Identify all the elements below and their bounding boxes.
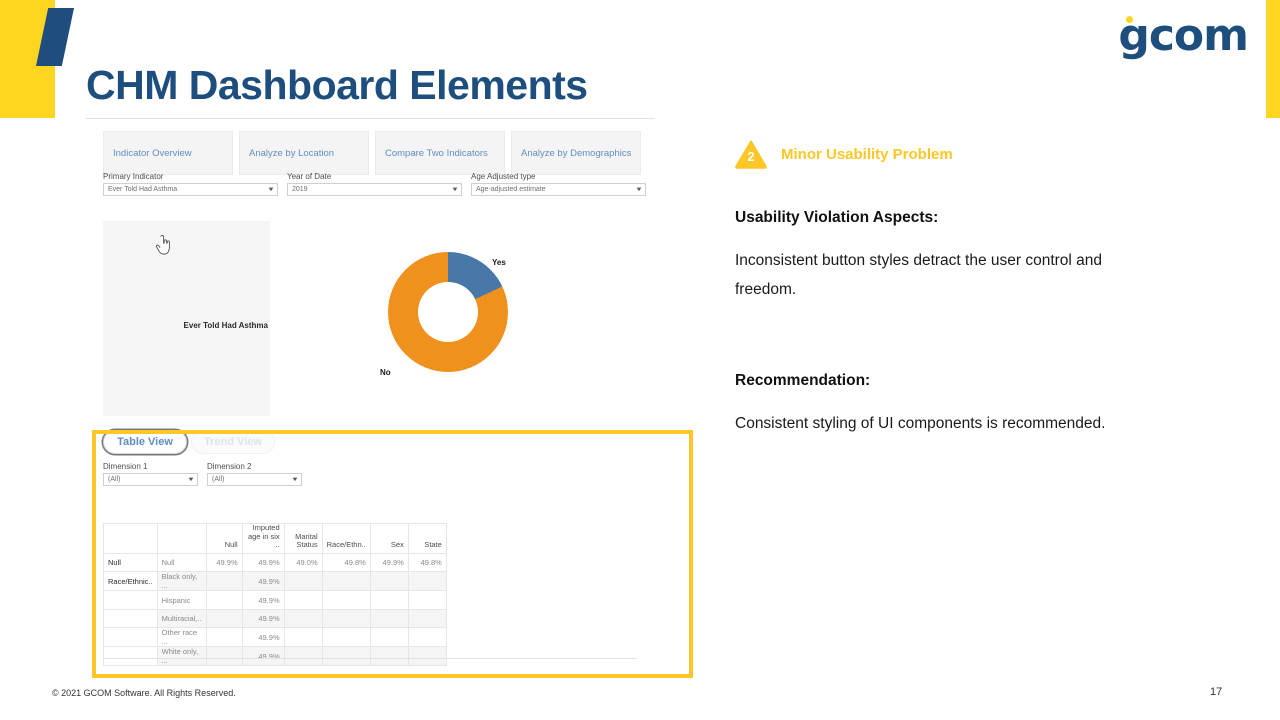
screenshot-top-divider bbox=[85, 118, 655, 119]
chevron-down-icon: ▼ bbox=[267, 187, 275, 193]
page-number: 17 bbox=[1210, 686, 1222, 698]
bar-chart-panel: Ever Told Had Asthma bbox=[103, 221, 270, 416]
donut-label-no: No bbox=[380, 368, 391, 377]
filter-label: Primary Indicator bbox=[103, 172, 278, 181]
copyright-text: © 2021 GCOM Software. All Rights Reserve… bbox=[52, 688, 236, 698]
primary-indicator-select[interactable]: Ever Told Had Asthma ▼ bbox=[103, 183, 278, 196]
tab-analyze-by-demographics[interactable]: Analyze by Demographics bbox=[511, 131, 641, 175]
tab-label: Indicator Overview bbox=[113, 148, 192, 159]
chart-axis-label: Ever Told Had Asthma bbox=[184, 321, 268, 330]
slide: gcom CHM Dashboard Elements Indicator Ov… bbox=[0, 0, 1280, 720]
gcom-logo: gcom bbox=[1118, 14, 1248, 58]
severity-number: 2 bbox=[735, 149, 767, 164]
tab-label: Compare Two Indicators bbox=[385, 148, 488, 159]
violation-body-block: Inconsistent button styles detract the u… bbox=[735, 246, 1135, 305]
select-value: Age-adjusted estimate bbox=[476, 186, 546, 193]
severity-header: 2 Minor Usability Problem bbox=[735, 140, 953, 169]
year-of-date-select[interactable]: 2019 ▼ bbox=[287, 183, 462, 196]
page-title: CHM Dashboard Elements bbox=[86, 62, 588, 109]
filter-primary-indicator: Primary Indicator Ever Told Had Asthma ▼ bbox=[103, 172, 278, 196]
severity-title: Minor Usability Problem bbox=[781, 146, 953, 163]
recommendation-heading-block: Recommendation: bbox=[735, 372, 1135, 390]
recommendation-body: Consistent styling of UI components is r… bbox=[735, 409, 1135, 438]
hand-pointer-icon bbox=[155, 235, 171, 255]
tab-indicator-overview[interactable]: Indicator Overview bbox=[103, 131, 233, 175]
right-yellow-bar bbox=[1266, 0, 1280, 118]
tab-label: Analyze by Demographics bbox=[521, 148, 631, 159]
tab-compare-two-indicators[interactable]: Compare Two Indicators bbox=[375, 131, 505, 175]
filter-bar: Primary Indicator Ever Told Had Asthma ▼… bbox=[103, 172, 655, 196]
tab-analyze-by-location[interactable]: Analyze by Location bbox=[239, 131, 369, 175]
violation-heading-block: Usability Violation Aspects: bbox=[735, 209, 1135, 227]
select-value: 2019 bbox=[292, 186, 308, 193]
donut-label-yes: Yes bbox=[492, 258, 506, 267]
tab-label: Analyze by Location bbox=[249, 148, 334, 159]
dashboard-tab-bar: Indicator Overview Analyze by Location C… bbox=[103, 131, 641, 175]
chevron-down-icon: ▼ bbox=[635, 187, 643, 193]
severity-badge: 2 bbox=[735, 140, 767, 169]
highlight-annotation-box bbox=[92, 430, 693, 678]
filter-label: Year of Date bbox=[287, 172, 462, 181]
filter-label: Age Adjusted type bbox=[471, 172, 646, 181]
filter-year-of-date: Year of Date 2019 ▼ bbox=[287, 172, 462, 196]
age-adjusted-type-select[interactable]: Age-adjusted estimate ▼ bbox=[471, 183, 646, 196]
select-value: Ever Told Had Asthma bbox=[108, 186, 177, 193]
chevron-down-icon: ▼ bbox=[451, 187, 459, 193]
recommendation-heading: Recommendation: bbox=[735, 372, 1135, 390]
logo-text: gcom bbox=[1118, 10, 1248, 61]
violation-body: Inconsistent button styles detract the u… bbox=[735, 246, 1135, 305]
filter-age-adjusted-type: Age Adjusted type Age-adjusted estimate … bbox=[471, 172, 646, 196]
violation-heading: Usability Violation Aspects: bbox=[735, 209, 1135, 227]
recommendation-body-block: Consistent styling of UI components is r… bbox=[735, 409, 1135, 438]
donut-chart: Yes No bbox=[360, 246, 520, 386]
donut-ring bbox=[388, 252, 508, 372]
